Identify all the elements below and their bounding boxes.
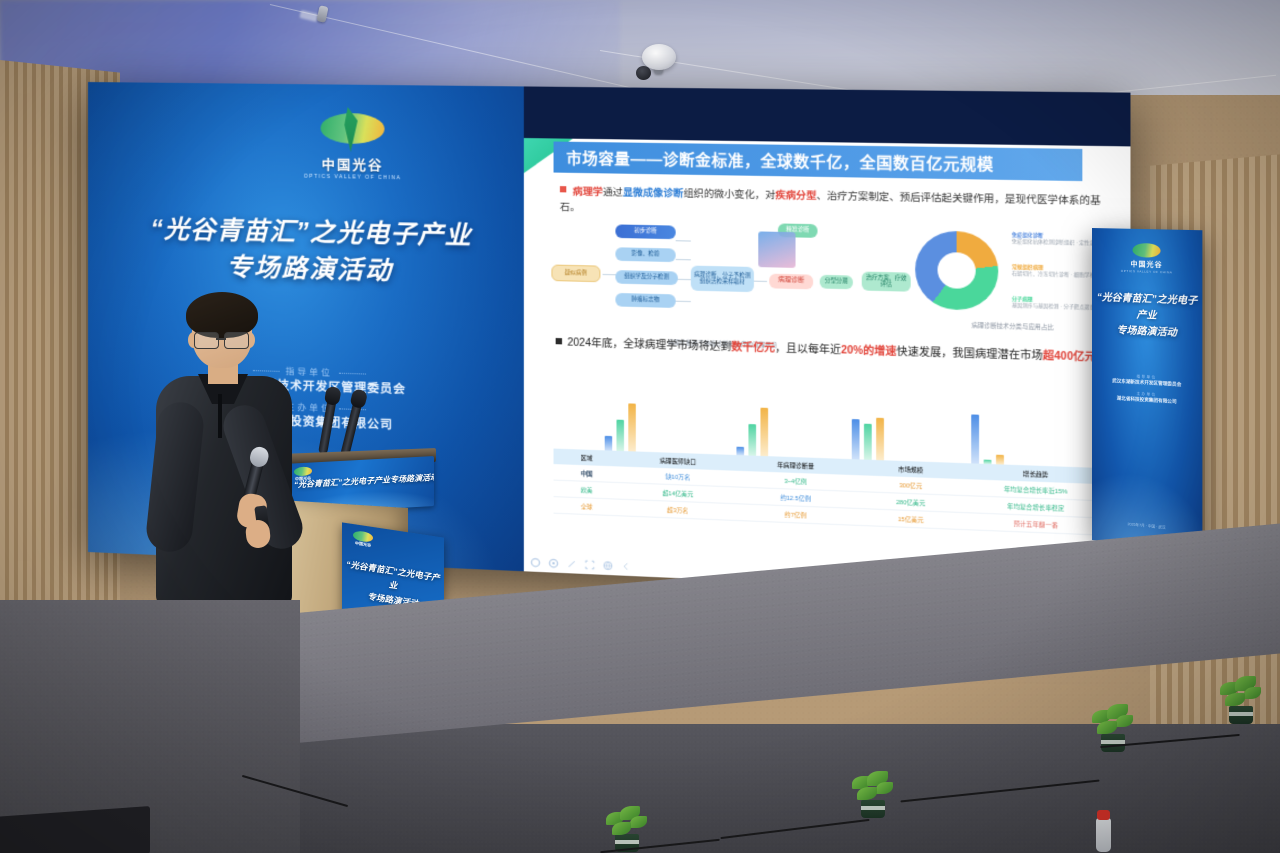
podium-front-logo-text: 中国光谷: [348, 539, 378, 549]
table-cell-1-2: 约12.5亿例: [736, 491, 855, 504]
bar-0-0: [605, 436, 612, 451]
side-screen-title: “光谷青苗汇”之光电子产业 专场路演活动: [1096, 290, 1198, 343]
table-cell-1-3: 280亿美元: [855, 496, 967, 509]
donut-chart-hole: [938, 252, 976, 289]
side-screen-logo: 中国光谷 OPTICS VALLEY OF CHINA: [1092, 242, 1202, 275]
bar-3-0: [971, 414, 979, 463]
speaker-shirt-placket: [218, 394, 222, 438]
bullet-square-icon: [560, 186, 566, 192]
presentation-slide: 市场容量——诊断金标准，全球数千亿，全国数百亿元规模 病理学通过显微成像诊断组织…: [524, 138, 1131, 598]
bullet-square-dark-icon: [556, 338, 562, 344]
bar-3-2: [996, 455, 1004, 465]
slide-title-banner: 市场容量——诊断金标准，全球数千亿，全国数百亿元规模: [554, 142, 1083, 182]
presenter-toolbar[interactable]: [530, 557, 631, 572]
flow-node-1: 初步诊断: [615, 224, 675, 239]
table-cell-0-3: 300亿元: [855, 479, 967, 492]
optics-valley-logo-icon: [316, 107, 388, 153]
flow-node-7: 病理诊断: [769, 274, 813, 290]
flow-node-9: 治疗方案、疗效评估: [862, 272, 911, 292]
bar-2-1: [864, 424, 872, 460]
logo-chinese-text: 中国光谷: [286, 153, 420, 174]
side-vertical-screen: 中国光谷 OPTICS VALLEY OF CHINA “光谷青苗汇”之光电子产…: [1092, 228, 1202, 550]
flow-node-2: 影像、检验: [615, 247, 675, 262]
bar-2-0: [852, 419, 860, 459]
potted-plant: [850, 772, 896, 818]
microscope-illustration: [758, 231, 795, 267]
table-header-2: 年病理诊断量: [736, 459, 855, 472]
bar-1-1: [748, 424, 756, 456]
glasses-icon: [224, 332, 249, 349]
bottle-cap: [1097, 810, 1110, 820]
logo-english-text: OPTICS VALLEY OF CHINA: [286, 173, 420, 181]
bar-group-2: [852, 417, 884, 460]
donut-chart: 免疫组化诊断 免疫组化抗体检测诊断组织 · 定性定量分析 常规组织病理 石蜡切片…: [913, 224, 1111, 341]
bar-group-1: [736, 407, 768, 456]
event-title: “光谷青苗汇”之光电子产业 专场路演活动: [112, 210, 512, 293]
table-header-3: 市场规模: [855, 463, 967, 476]
pathology-flow-diagram: 疑似病例 初步诊断 影像、检验 组织学及分子检测 肿瘤标志物 病理诊断、分子予检…: [547, 219, 906, 337]
table-cell-2-3: 15亿美元: [855, 513, 967, 526]
table-header-1: 病理医师缺口: [620, 455, 737, 468]
bar-group-3: [971, 414, 1004, 464]
bar-0-2: [628, 403, 636, 451]
conference-hall-scene: 中国光谷 OPTICS VALLEY OF CHINA “光谷青苗汇”之光电子产…: [0, 0, 1280, 853]
donut-legend-item-2: 分子病理 基因测序与基因检测 · 分子靶点筛查: [1012, 296, 1095, 311]
table-header-4: 增长趋势: [967, 467, 1106, 481]
table-cell-0-2: 3~4亿例: [736, 474, 855, 487]
flow-node-4: 肿瘤标志物: [615, 293, 675, 308]
table-cell-1-1: 超14亿美元: [620, 487, 737, 500]
table-cell-0-0: 中国: [554, 468, 620, 479]
pen-icon[interactable]: [566, 559, 577, 570]
optics-valley-logo-icon: [1132, 243, 1160, 258]
bar-group-0: [605, 403, 636, 452]
table-cell-0-1: 缺10万名: [620, 470, 737, 483]
donut-legend-item-1: 常规组织病理 石蜡切片、冷冻切片诊断 · 细胞学检查: [1012, 264, 1100, 279]
podium-front-logo: 中国光谷: [348, 529, 378, 549]
optics-valley-logo: 中国光谷 OPTICS VALLEY OF CHINA: [286, 106, 420, 196]
crop-icon[interactable]: [584, 559, 595, 570]
table-cell-2-1: 超3万名: [620, 503, 737, 516]
water-bottle: [1096, 818, 1111, 852]
bar-1-2: [760, 408, 768, 457]
slide-paragraph-2: 2024年底，全球病理学市场将达到数千亿元，且以每年近20%的增速快速发展，我国…: [556, 335, 1108, 366]
circle-icon[interactable]: [530, 557, 541, 568]
table-cell-0-4: 年均复合增长率近15%: [967, 483, 1106, 497]
slide-paragraph-1: 病理学通过显微成像诊断组织的微小变化，对疾病分型、治疗方案制定、预后评估起关键作…: [560, 184, 1112, 225]
glasses-bridge: [216, 338, 226, 340]
potted-plant: [1218, 678, 1264, 724]
flow-node-3: 组织学及分子检测: [615, 270, 677, 285]
slide-title-text: 市场容量——诊断金标准，全球数千亿，全国数百亿元规模: [566, 146, 993, 175]
ceiling-speaker-dot: [636, 66, 651, 80]
table-header-0: 区域: [554, 452, 620, 463]
flow-node-5: 病理诊断、分子予检测组织活检采样取材: [691, 266, 754, 293]
table-cell-2-2: 约7亿例: [736, 508, 855, 521]
side-title-line1: “光谷青苗汇”之光电子产业: [1096, 290, 1198, 326]
bar-2-2: [876, 418, 884, 461]
target-icon[interactable]: [548, 558, 559, 569]
potted-plant: [604, 806, 650, 852]
table-cell-2-4: 预计五年翻一番: [967, 517, 1106, 531]
bar-0-1: [616, 420, 624, 451]
globe-icon[interactable]: [603, 560, 614, 571]
back-icon[interactable]: [621, 561, 632, 572]
table-cell-1-0: 欧美: [554, 484, 620, 495]
flow-node-8: 分型分期: [820, 275, 853, 289]
table-cell-1-4: 年均复合增长率稳定: [967, 500, 1106, 514]
side-title-line2: 专场路演活动: [1096, 322, 1198, 343]
bar-1-0: [736, 447, 744, 456]
flow-node-entry: 疑似病例: [551, 264, 600, 282]
side-screen-organizers: 指导单位 武汉东湖新技术开发区管理委员会 主办单位 湖北省科技投资集团有限公司: [1096, 366, 1198, 406]
table-cell-2-0: 全球: [554, 501, 620, 512]
glasses-icon: [194, 332, 219, 349]
donut-chart-caption: 病理诊断技术分类与应用占比: [920, 319, 1107, 332]
